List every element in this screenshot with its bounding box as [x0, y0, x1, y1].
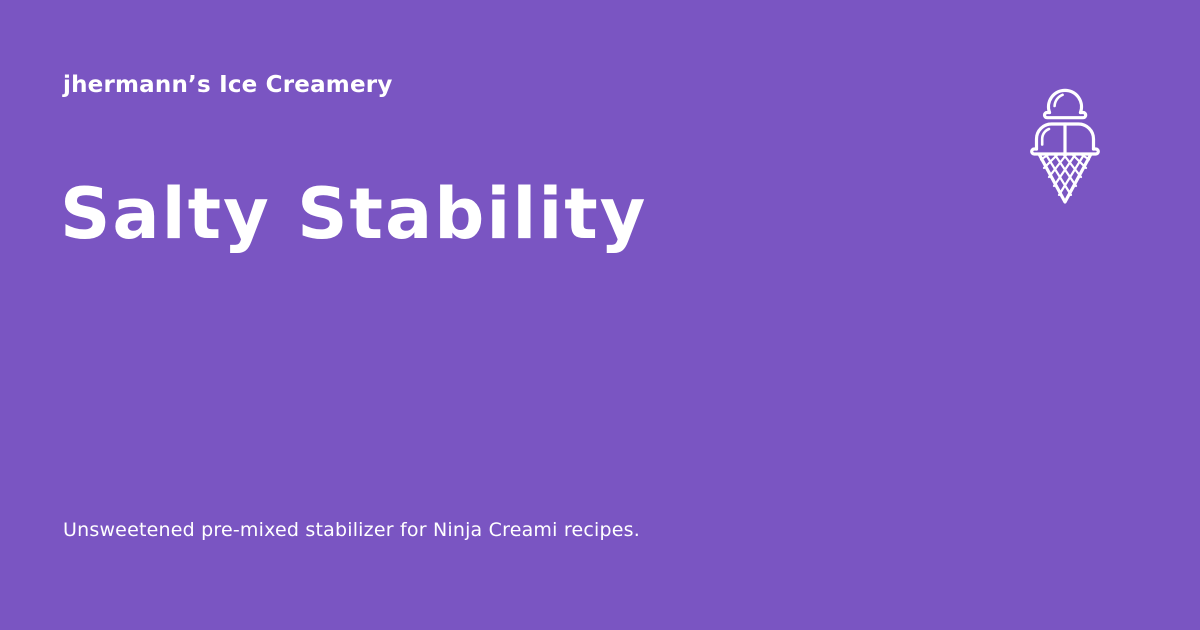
page-subtitle: Unsweetened pre-mixed stabilizer for Nin… — [63, 518, 640, 543]
page-title: Salty Stability — [60, 179, 647, 249]
ice-cream-cone-icon — [1026, 64, 1104, 208]
open-graph-card: jhermann’s Ice Creamery Salty Stability … — [0, 0, 1200, 630]
brand-name: jhermann’s Ice Creamery — [63, 72, 393, 98]
